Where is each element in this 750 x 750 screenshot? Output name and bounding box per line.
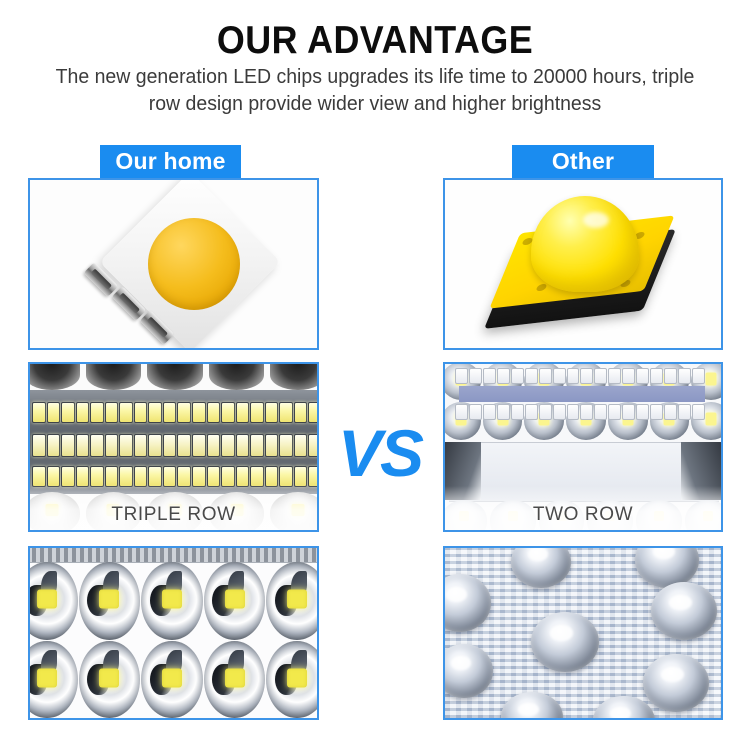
textured-dome-surface-photo xyxy=(445,548,721,718)
led-row-1 xyxy=(455,368,705,384)
chrome-dome xyxy=(643,654,709,712)
page-subtitle: The new generation LED chips upgrades it… xyxy=(43,63,708,117)
reflector-cup xyxy=(141,562,203,640)
chrome-dome xyxy=(651,582,717,640)
badge-our-home: Our home xyxy=(100,145,241,178)
reflector-cup xyxy=(204,562,266,640)
chrome-dome xyxy=(531,612,599,672)
reflector-cup xyxy=(266,562,317,640)
top-reflector-strip xyxy=(30,364,317,390)
triple-row-photo: TRIPLE ROW xyxy=(30,364,317,530)
chrome-dome xyxy=(593,696,655,718)
led-row-1 xyxy=(32,402,317,423)
panel-our-reflectors xyxy=(28,546,319,720)
badge-other: Other xyxy=(512,145,654,178)
vs-divider-label: VS xyxy=(325,418,435,488)
advantage-infographic: OUR ADVANTAGE The new generation LED chi… xyxy=(0,0,750,750)
smd-led-chip-photo xyxy=(30,180,317,348)
led-metal-bar xyxy=(30,390,317,494)
reflector-cup xyxy=(79,562,141,640)
page-title: OUR ADVANTAGE xyxy=(30,18,720,64)
chrome-dome xyxy=(445,644,493,698)
dome-specular-highlight xyxy=(583,212,609,228)
led-row-2 xyxy=(32,434,317,457)
reflector-cup xyxy=(30,562,78,640)
led-silicone-dome-lens xyxy=(531,196,639,292)
caption-two-row: TWO ROW xyxy=(445,504,721,526)
panel-other-chip xyxy=(443,178,723,350)
reflector-cups-photo xyxy=(30,548,317,718)
high-power-led-photo xyxy=(445,180,721,348)
chrome-dome xyxy=(511,548,571,588)
caption-triple-row: TRIPLE ROW xyxy=(30,504,317,526)
panel-our-chip xyxy=(28,178,319,350)
panel-other-surface xyxy=(443,546,723,720)
chrome-dome xyxy=(445,574,491,632)
led-row-2 xyxy=(455,404,705,420)
two-row-photo: TWO ROW xyxy=(445,364,721,530)
reflector-cup-grid xyxy=(30,562,317,718)
bar-blue-band xyxy=(459,386,705,402)
housing-edge-strip xyxy=(30,548,317,563)
panel-triple-row: TRIPLE ROW xyxy=(28,362,319,532)
reflector-cup xyxy=(79,641,141,719)
chrome-dome xyxy=(501,692,563,718)
panel-two-row: TWO ROW xyxy=(443,362,723,532)
chip-phosphor-circle xyxy=(148,218,240,310)
reflector-cup xyxy=(30,641,78,719)
reflector-cup xyxy=(204,641,266,719)
reflector-cup xyxy=(141,641,203,719)
reflector-cup xyxy=(266,641,317,719)
